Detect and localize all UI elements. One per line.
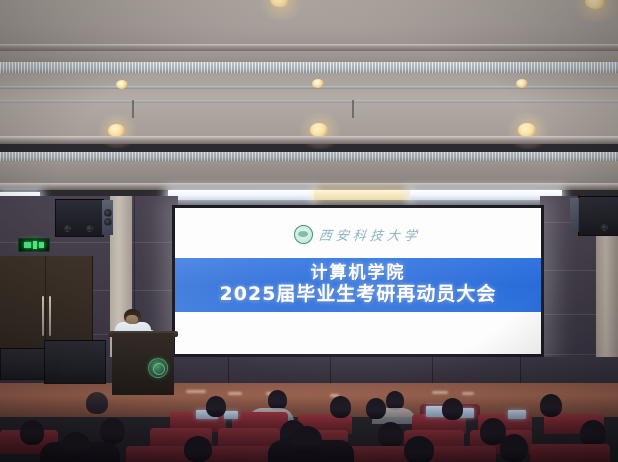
audience-head [366,398,386,419]
exit-door-icon [39,242,44,248]
audience-head [20,420,44,445]
ceiling-rail [0,100,618,103]
university-seal-icon [294,225,313,244]
ceiling-downlight [116,80,128,89]
screen-institution-logo: 西安科技大学 [175,217,541,251]
ceiling-band [0,161,618,183]
ceiling-downlight [516,79,528,88]
seat-row [426,446,496,462]
screen-title-banner: 计算机学院 2025届毕业生考研再动员大会 [175,258,541,312]
linear-ceiling-light-warm [314,190,410,200]
speaker-driver-icon [64,225,71,232]
light-fixture-stem [132,100,134,118]
ceiling-beam [0,44,618,51]
audience-laptop [508,410,526,419]
ceiling-beam [0,136,618,144]
ceiling-downlight [310,123,328,137]
university-emblem-icon [148,358,168,378]
audience-head [268,390,287,410]
left-wall-loudspeaker [55,199,104,237]
door-handle-icon[interactable] [42,296,44,336]
auditorium-photo: 西安科技大学 计算机学院 2025届毕业生考研再动员大会 [0,0,618,462]
audience-head [580,420,606,447]
ceiling-ventilation-grille [0,62,618,73]
speaker-driver-icon [86,225,93,232]
university-wordmark: 西安科技大学 [318,225,422,244]
light-fixture-stem [352,100,354,118]
audience-head [404,436,434,462]
audience-head [86,392,108,414]
exit-arrow-icon [24,242,31,248]
ceiling-beam [0,183,618,190]
audience-head [100,418,125,444]
stage-monitor-cabinet [44,340,106,384]
banner-line-1: 计算机学院 [311,264,406,284]
exit-running-man-icon [33,241,37,249]
right-wall-loudspeaker [578,196,618,236]
speaker-driver-icon [601,224,608,231]
audience-head [442,398,463,420]
audience-head [540,394,562,417]
seat-row [204,446,274,462]
projection-screen: 西安科技大学 计算机学院 2025届毕业生考研再动员大会 [175,208,541,354]
ceiling-downlight [518,123,536,137]
ceiling-downlight [312,79,324,88]
audience-laptop [224,411,238,419]
left-loudspeaker-side [102,200,113,235]
audience-head [292,426,322,454]
ceiling-upper-surface [0,0,618,46]
emergency-exit-sign-icon [18,238,50,252]
audience-head [330,396,351,418]
audience-head [62,432,90,458]
presenter-face [126,315,138,324]
door-handle-icon[interactable] [49,296,51,336]
banner-line-2: 2025届毕业生考研再动员大会 [220,283,497,306]
ceiling-band [0,51,618,62]
linear-ceiling-light [168,190,314,200]
audience-head [378,422,403,448]
ceiling-ventilation-grille [0,152,618,161]
audience-head [206,396,226,417]
seat-row [530,444,610,462]
audience-head [500,434,528,462]
audience-head [184,436,212,462]
right-loudspeaker-side [570,198,579,232]
